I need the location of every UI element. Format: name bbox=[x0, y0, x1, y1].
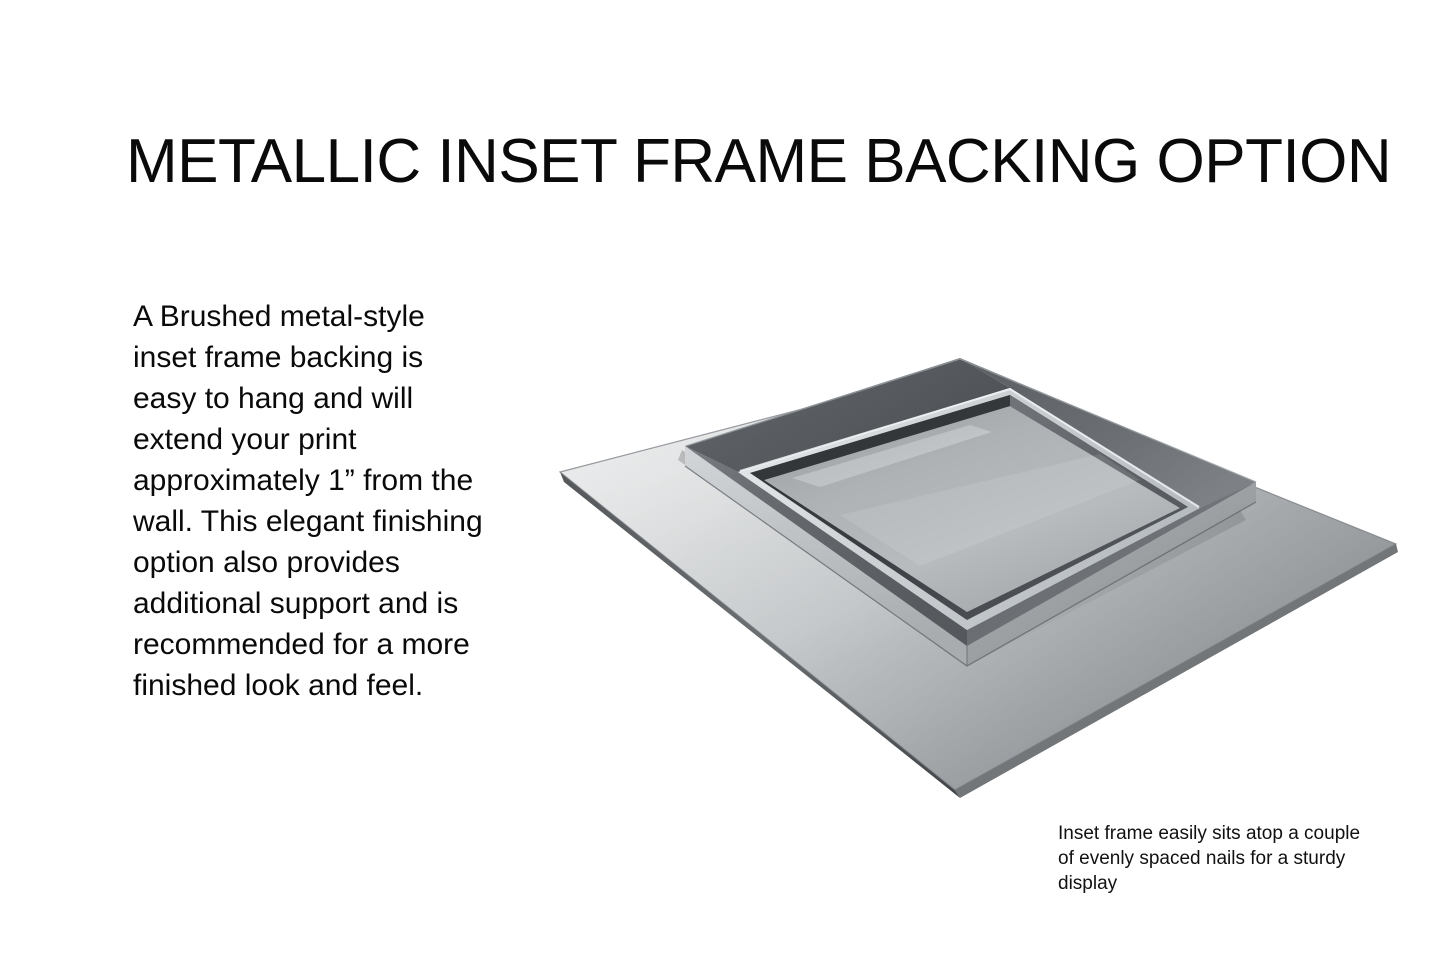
product-illustration-svg bbox=[540, 350, 1420, 810]
page-title: METALLIC INSET FRAME BACKING OPTION bbox=[126, 128, 1326, 196]
slide-canvas: METALLIC INSET FRAME BACKING OPTION A Br… bbox=[0, 0, 1445, 963]
figure-caption: Inset frame easily sits atop a couple of… bbox=[1058, 821, 1378, 896]
body-description-text: A Brushed metal-style inset frame backin… bbox=[133, 296, 488, 706]
metallic-inset-frame-photo bbox=[540, 350, 1420, 810]
